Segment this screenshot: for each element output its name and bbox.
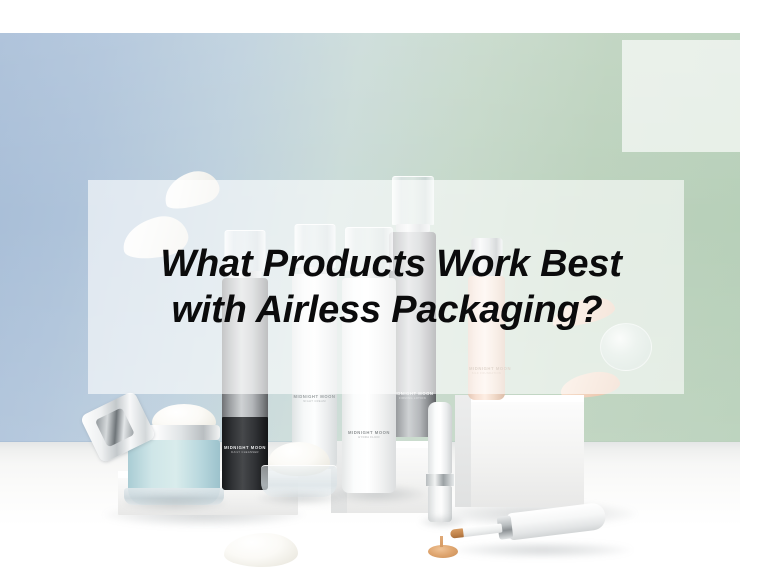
concealer-drop bbox=[428, 545, 458, 558]
white-cream-dish-shadow bbox=[256, 491, 344, 505]
standing-applicator-pen bbox=[428, 402, 452, 524]
white-pump-bottle-sub: HYDRA FLUID bbox=[343, 436, 395, 440]
page-title: What Products Work Best with Airless Pac… bbox=[88, 180, 684, 394]
frost-pump-bottle-sub: NIGHT CREAM bbox=[293, 400, 336, 404]
headline-line-2: with Airless Packaging? bbox=[169, 287, 602, 333]
page-root: MIDNIGHT MOON FIRMING LOTION MIDNIGHT MO… bbox=[0, 0, 768, 578]
concealer-pen-tip bbox=[450, 528, 464, 539]
black-pump-bottle-sub: DAILY CLEANSER bbox=[223, 451, 267, 455]
spilled-cream-puddle bbox=[224, 533, 298, 567]
tall-grey-bottle-sub: FIRMING LOTION bbox=[391, 397, 435, 401]
white-pump-bottle-label: MIDNIGHT MOON HYDRA FLUID bbox=[343, 430, 395, 439]
hero-image: MIDNIGHT MOON FIRMING LOTION MIDNIGHT MO… bbox=[0, 33, 740, 578]
standing-applicator-pen-cap bbox=[428, 402, 452, 474]
headline-line-1: What Products Work Best bbox=[150, 241, 621, 287]
plinth-right-side bbox=[455, 395, 471, 507]
frost-pump-bottle-label: MIDNIGHT MOON NIGHT CREAM bbox=[293, 394, 336, 403]
mint-airless-jar-shadow bbox=[122, 495, 228, 511]
black-pump-bottle-label: MIDNIGHT MOON DAILY CLEANSER bbox=[223, 445, 267, 454]
plinth-right bbox=[455, 395, 584, 507]
standing-applicator-pen-ring bbox=[426, 474, 454, 486]
